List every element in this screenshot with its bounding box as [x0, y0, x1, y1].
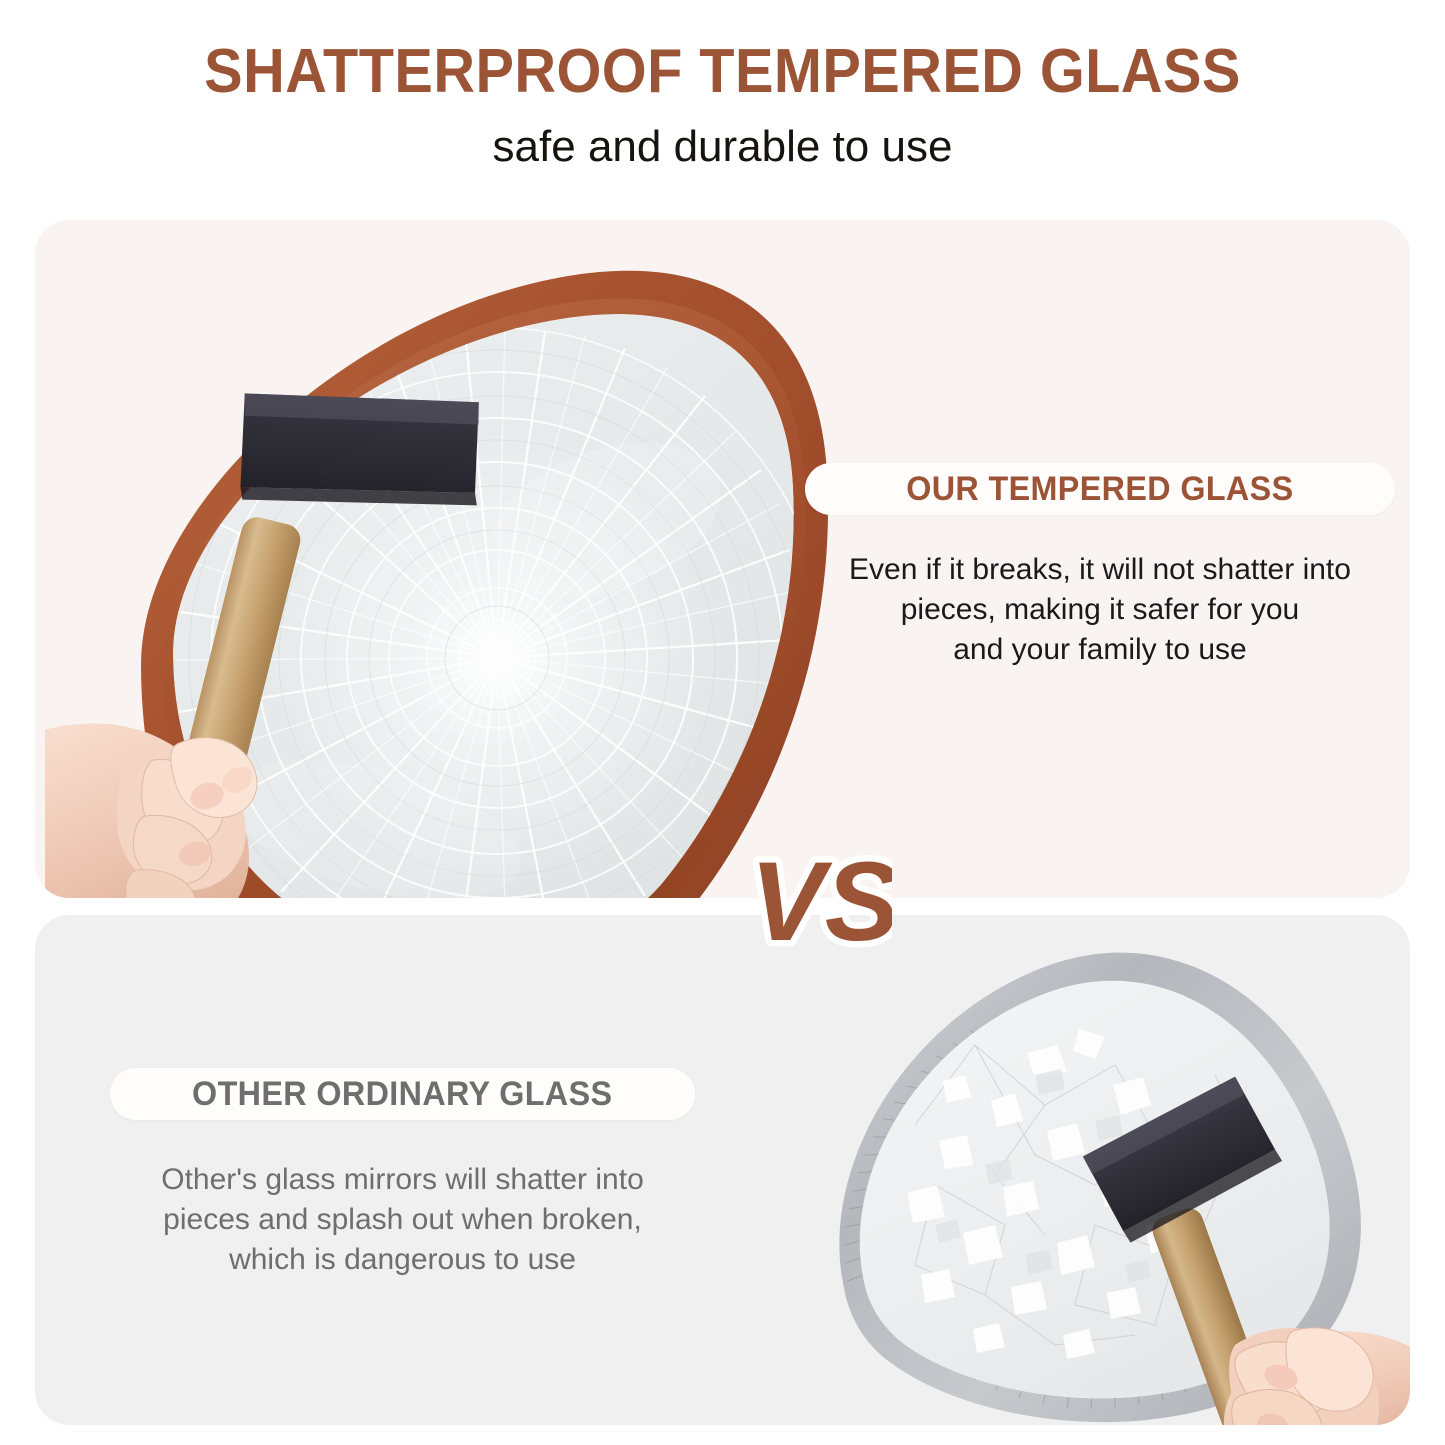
other-ordinary-glass-description: Other's glass mirrors will shatter into … — [115, 1160, 690, 1280]
other-ordinary-glass-label: OTHER ORDINARY GLASS — [192, 1075, 612, 1114]
versus-badge: VS — [742, 836, 892, 966]
page-subtitle: safe and durable to use — [0, 122, 1445, 172]
page-title: SHATTERPROOF TEMPERED GLASS — [51, 36, 1395, 107]
metal-mirror-illustration — [795, 925, 1410, 1425]
tempered-glass-panel: OUR TEMPERED GLASS Even if it breaks, it… — [35, 220, 1410, 898]
description-line: which is dangerous to use — [115, 1240, 690, 1280]
page-header: SHATTERPROOF TEMPERED GLASS safe and dur… — [0, 0, 1445, 210]
description-line: pieces, making it safer for you — [815, 590, 1385, 630]
hand-holding-hammer — [1224, 1328, 1410, 1425]
hand-holding-hammer — [45, 724, 257, 899]
description-line: pieces and splash out when broken, — [115, 1200, 690, 1240]
description-line: Other's glass mirrors will shatter into — [115, 1160, 690, 1200]
versus-label: VS — [750, 839, 892, 964]
wooden-mirror-illustration — [45, 220, 835, 898]
our-tempered-glass-badge: OUR TEMPERED GLASS — [805, 463, 1395, 515]
our-tempered-glass-label: OUR TEMPERED GLASS — [906, 470, 1293, 509]
our-tempered-glass-description: Even if it breaks, it will not shatter i… — [815, 550, 1385, 670]
ordinary-glass-panel: OTHER ORDINARY GLASS Other's glass mirro… — [35, 915, 1410, 1425]
other-ordinary-glass-badge: OTHER ORDINARY GLASS — [110, 1068, 695, 1120]
description-line: and your family to use — [815, 630, 1385, 670]
description-line: Even if it breaks, it will not shatter i… — [815, 550, 1385, 590]
